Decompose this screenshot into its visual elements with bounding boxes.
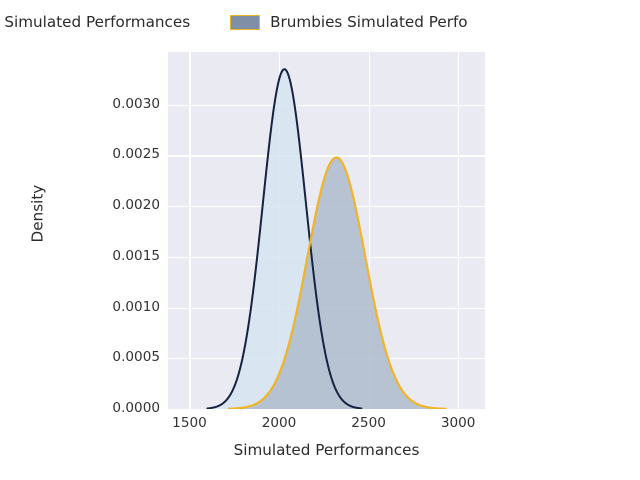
y-tick-label: 0.0015 — [70, 250, 160, 264]
y-tick-label: 0.0025 — [70, 149, 160, 163]
y-axis-label: Density — [30, 114, 45, 314]
x-axis-ticks: 1500200025003000 — [168, 417, 485, 439]
x-tick-label: 3000 — [398, 417, 518, 431]
legend-label-brumbies: Brumbies Simulated Perfo — [270, 15, 467, 30]
y-tick-label: 0.0005 — [70, 351, 160, 365]
legend-entry-waratahs: w South Wales Waratahs Simulated Perform… — [0, 15, 190, 30]
y-tick-label: 0.0010 — [70, 301, 160, 315]
legend-entry-brumbies: Brumbies Simulated Perfo — [230, 15, 467, 30]
density-plot-figure: w South Wales Waratahs Simulated Perform… — [0, 0, 640, 480]
y-tick-label: 0.0000 — [70, 402, 160, 416]
density-curves — [168, 52, 485, 409]
y-tick-label: 0.0030 — [70, 98, 160, 112]
legend-swatch-brumbies — [230, 15, 260, 30]
chart-legend: w South Wales Waratahs Simulated Perform… — [0, 8, 640, 38]
y-axis-ticks: 0.00000.00050.00100.00150.00200.00250.00… — [68, 52, 160, 409]
x-axis-label: Simulated Performances — [168, 443, 485, 458]
legend-label-waratahs: w South Wales Waratahs Simulated Perform… — [0, 15, 190, 30]
y-tick-label: 0.0020 — [70, 199, 160, 213]
plot-area — [168, 52, 485, 409]
